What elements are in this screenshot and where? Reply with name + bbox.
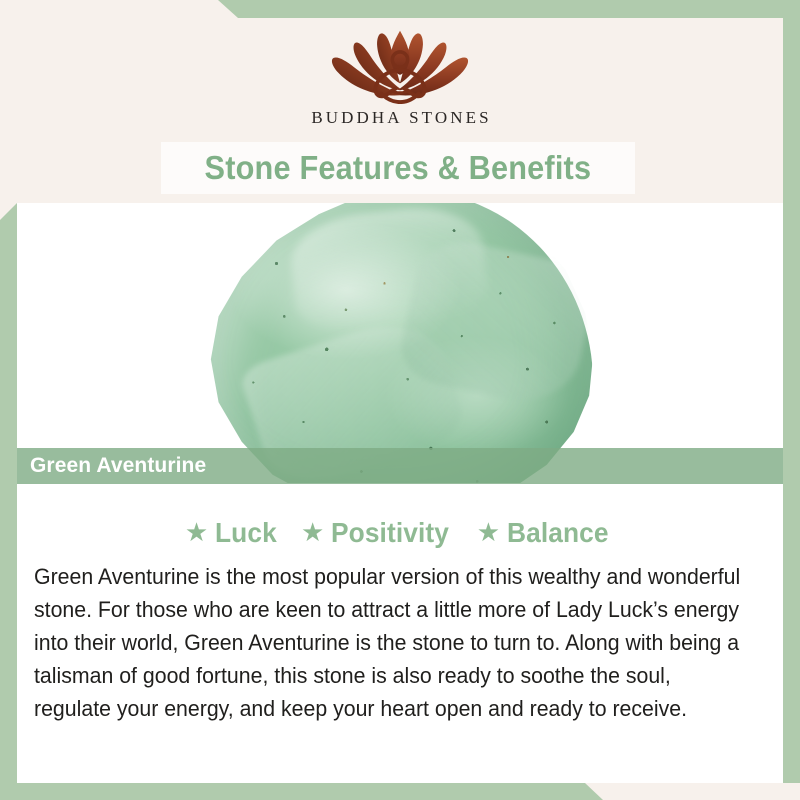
star-icon: ★	[477, 519, 500, 545]
stone-name: Green Aventurine	[17, 454, 206, 478]
stone-photo	[17, 203, 783, 483]
benefits-row: ★ Luck ★ Positivity ★ Balance	[17, 512, 783, 554]
stone-name-band: Green Aventurine	[17, 448, 783, 484]
benefit-item-balance: ★ Balance	[477, 517, 615, 549]
stone-speckles	[207, 203, 593, 483]
lotus-meditation-icon	[315, 22, 485, 104]
frame-left-bar	[0, 203, 17, 800]
star-icon: ★	[301, 519, 324, 545]
poster-canvas: BUDDHA STONES Stone Features & Benefits …	[0, 0, 800, 800]
brand-header: BUDDHA STONES	[0, 0, 800, 140]
star-icon: ★	[185, 519, 208, 545]
benefit-item-luck: ★ Luck	[185, 517, 281, 549]
title-banner: Stone Features & Benefits	[161, 142, 635, 194]
stone-body	[207, 203, 593, 483]
stone-description: Green Aventurine is the most popular ver…	[34, 560, 741, 725]
stone-image-wrap	[207, 203, 593, 483]
benefit-item-positivity: ★ Positivity	[301, 517, 457, 549]
benefit-label-positivity: Positivity	[331, 517, 449, 549]
benefit-label-balance: Balance	[507, 517, 609, 549]
benefit-label-luck: Luck	[215, 517, 277, 549]
frame-bottom-bar	[0, 783, 800, 800]
page-title: Stone Features & Benefits	[205, 149, 592, 187]
brand-wordmark: BUDDHA STONES	[308, 108, 491, 128]
